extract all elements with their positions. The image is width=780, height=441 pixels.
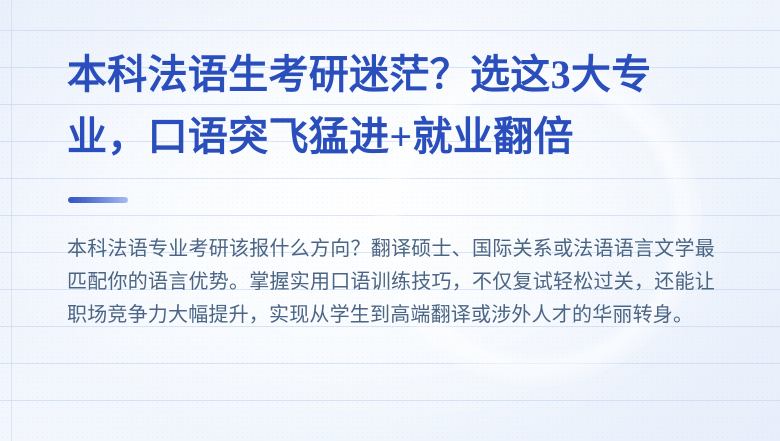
article-card: 本科法语生考研迷茫？选这3大专业，口语突飞猛进+就业翻倍 本科法语专业考研该报什… (0, 0, 780, 441)
page-title: 本科法语生考研迷茫？选这3大专业，口语突飞猛进+就业翻倍 (67, 44, 717, 168)
article-body-text: 本科法语专业考研该报什么方向？翻译硕士、国际关系或法语语言文学最匹配你的语言优势… (67, 233, 715, 332)
left-margin-rule (11, 0, 12, 441)
accent-divider (68, 197, 128, 203)
content-column: 本科法语生考研迷茫？选这3大专业，口语突飞猛进+就业翻倍 本科法语专业考研该报什… (67, 0, 717, 441)
